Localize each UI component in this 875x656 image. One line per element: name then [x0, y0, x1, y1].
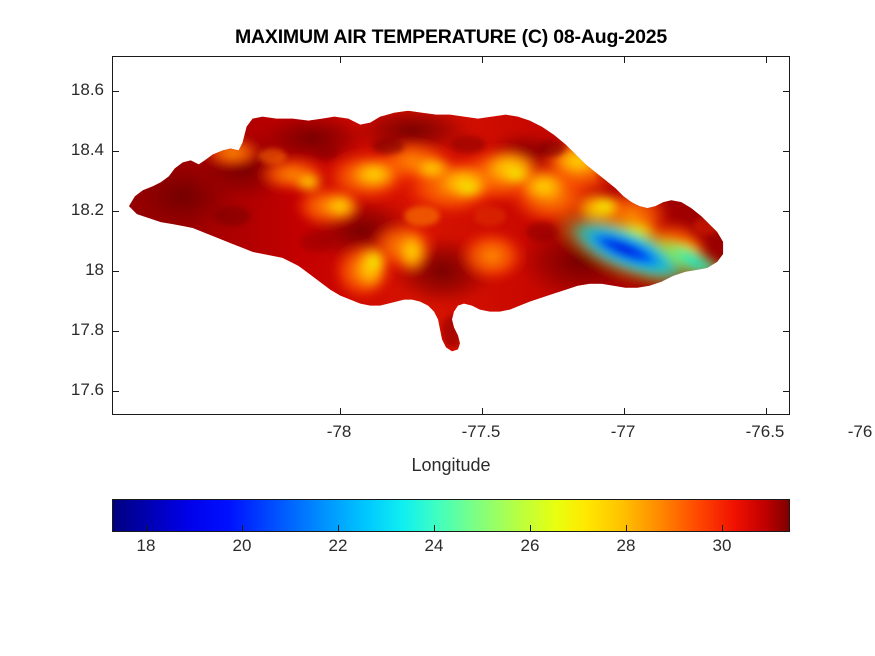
ytick-mark	[113, 271, 119, 272]
xtick-mark	[482, 408, 483, 414]
colorbar-tick	[530, 525, 531, 532]
ytick-label: 17.6	[42, 380, 104, 400]
colorbar-label: 26	[521, 536, 540, 556]
colorbar-tick	[338, 525, 339, 532]
colorbar-label: 18	[137, 536, 156, 556]
temperature-heatmap	[113, 57, 789, 414]
ytick-mark	[113, 211, 119, 212]
colorbar[interactable]: 18 20 22 24 26 28 30	[112, 499, 790, 532]
colorbar-tick	[146, 525, 147, 532]
xtick-mark-top	[766, 57, 767, 63]
colorbar-label: 20	[233, 536, 252, 556]
xtick-mark-top	[340, 57, 341, 63]
ytick-label: 18	[42, 260, 104, 280]
xtick-label: -78	[327, 422, 352, 442]
xtick-mark-top	[482, 57, 483, 63]
x-axis-label: Longitude	[112, 455, 790, 476]
colorbar-label: 22	[329, 536, 348, 556]
colorbar-tick	[434, 525, 435, 532]
colorbar-label: 30	[713, 536, 732, 556]
figure-canvas: MAXIMUM AIR TEMPERATURE (C) 08-Aug-2025	[0, 0, 875, 656]
ytick-mark-right	[783, 391, 789, 392]
colorbar-label: 24	[425, 536, 444, 556]
xtick-label: -76.5	[746, 422, 785, 442]
ytick-mark	[113, 91, 119, 92]
ytick-label: 18.2	[42, 200, 104, 220]
ytick-label: 17.8	[42, 320, 104, 340]
ytick-mark-right	[783, 151, 789, 152]
colorbar-tick	[722, 525, 723, 532]
ytick-mark-right	[783, 271, 789, 272]
xtick-mark	[766, 408, 767, 414]
ytick-label: 18.4	[42, 140, 104, 160]
xtick-mark-top	[624, 57, 625, 63]
ytick-mark-right	[783, 211, 789, 212]
page-title: MAXIMUM AIR TEMPERATURE (C) 08-Aug-2025	[112, 26, 790, 49]
xtick-mark	[624, 408, 625, 414]
ytick-mark	[113, 151, 119, 152]
ytick-label: 18.6	[42, 80, 104, 100]
ytick-mark	[113, 391, 119, 392]
colorbar-gradient	[112, 499, 790, 532]
xtick-label: -77.5	[462, 422, 501, 442]
colorbar-label: 28	[617, 536, 636, 556]
xtick-mark	[340, 408, 341, 414]
xtick-label: -77	[611, 422, 636, 442]
map-axes[interactable]	[112, 56, 790, 415]
colorbar-tick	[626, 525, 627, 532]
ytick-mark-right	[783, 331, 789, 332]
ytick-mark-right	[783, 91, 789, 92]
xtick-label: -76	[848, 422, 873, 442]
colorbar-tick	[242, 525, 243, 532]
ytick-mark	[113, 331, 119, 332]
